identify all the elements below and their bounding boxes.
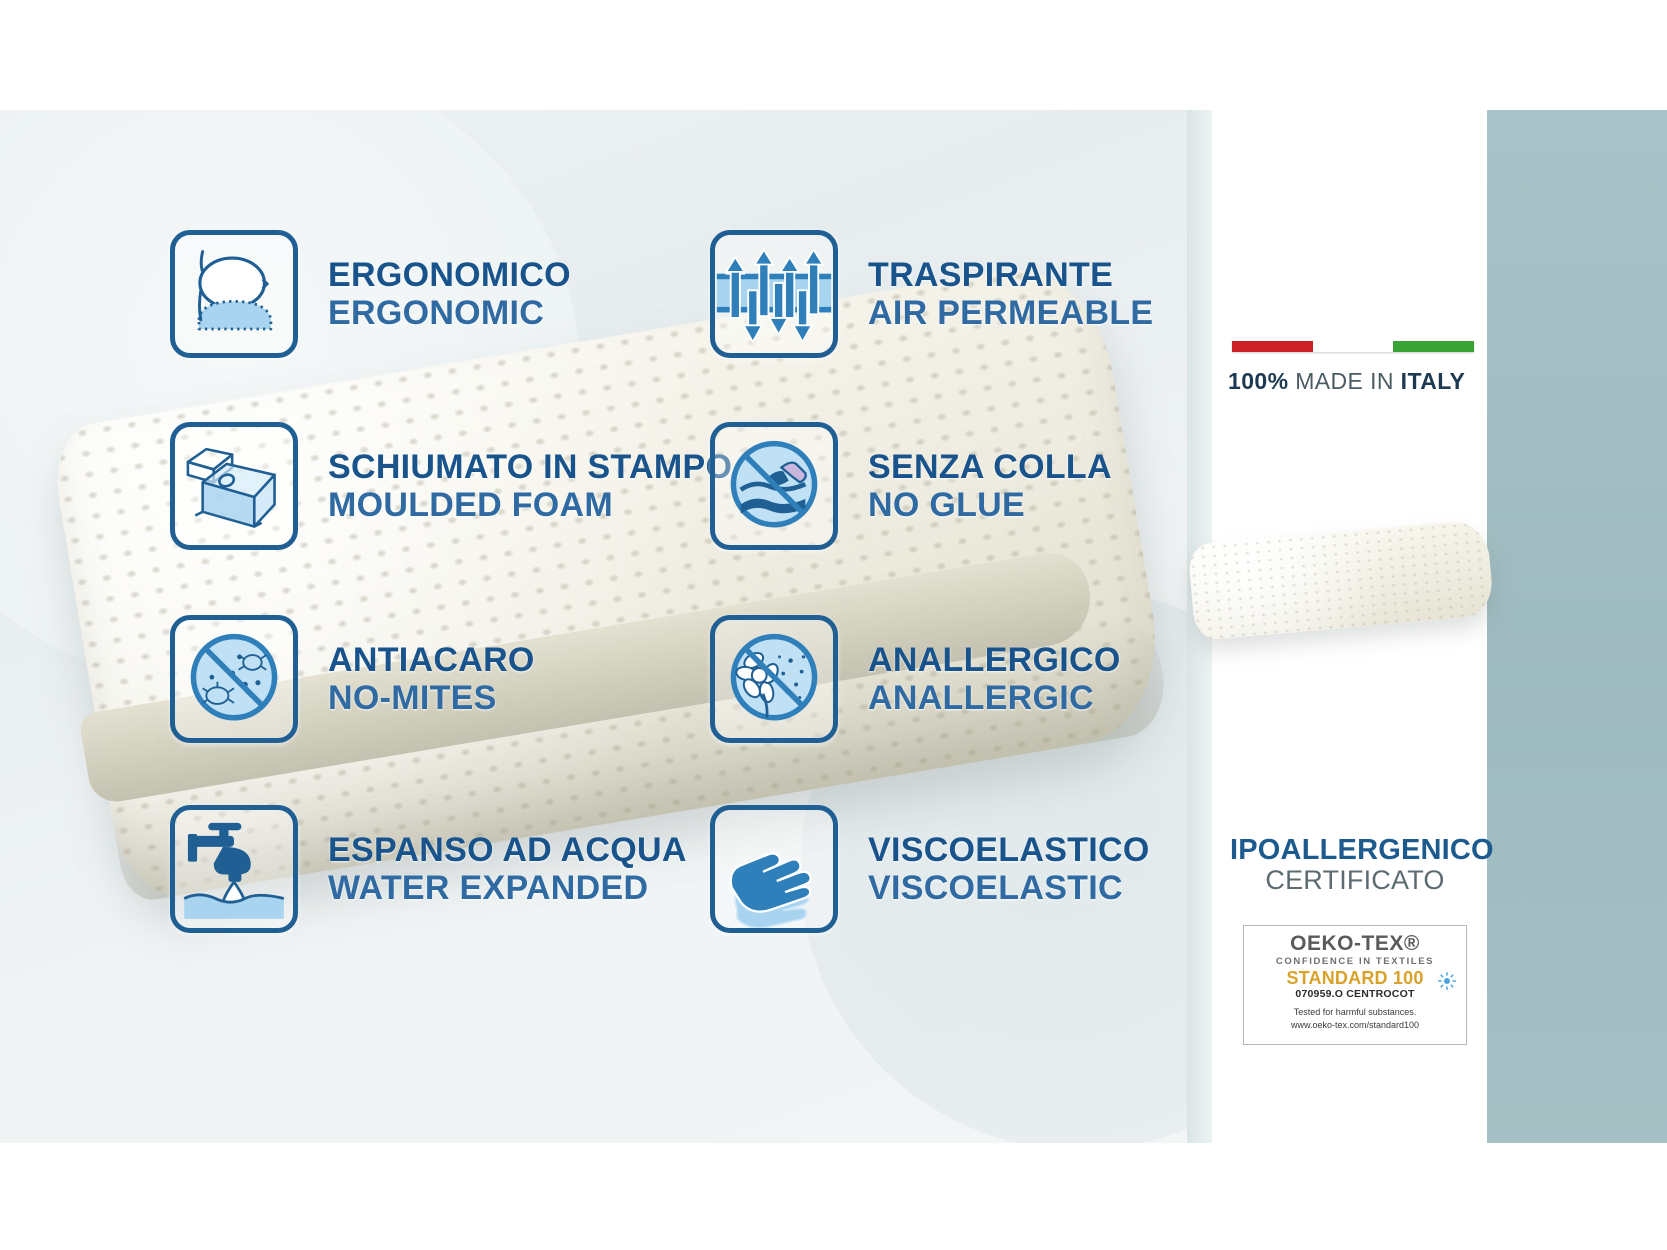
feature-label: VISCOELASTICO VISCOELASTIC	[868, 831, 1150, 908]
feature-label: ESPANSO AD ACQUA WATER EXPANDED	[328, 831, 687, 908]
feature-no-glue: SENZA COLLA NO GLUE	[710, 422, 1112, 550]
oeko-tex-tested-text: Tested for harmful substances.	[1244, 1006, 1466, 1018]
feature-moulded-foam: SCHIUMATO IN STAMPO MOULDED FOAM	[170, 422, 732, 550]
feature-label-english: NO-MITES	[328, 679, 535, 717]
no-glue-prohibition-icon	[710, 422, 838, 550]
feature-label-english: AIR PERMEABLE	[868, 294, 1153, 332]
infographic-canvas: ERGONOMICO ERGONOMIC	[0, 110, 1667, 1143]
feature-label: SENZA COLLA NO GLUE	[868, 448, 1112, 525]
oeko-tex-brand: OEKO-TEX®	[1244, 933, 1466, 954]
feature-label-english: VISCOELASTIC	[868, 869, 1150, 907]
anallergic-flower-prohibition-icon	[710, 615, 838, 743]
feature-label-italian: ESPANSO AD ACQUA	[328, 831, 687, 869]
right-teal-band	[1487, 110, 1667, 1143]
oeko-tex-standard: STANDARD 100	[1244, 969, 1466, 988]
oeko-tex-code: 070959.O CENTROCOT	[1244, 988, 1466, 1000]
feature-viscoelastic: VISCOELASTICO VISCOELASTIC	[710, 805, 1150, 933]
feature-label-italian: SCHIUMATO IN STAMPO	[328, 448, 732, 486]
feature-label-italian: ANALLERGICO	[868, 641, 1121, 679]
oeko-tex-certification-label: OEKO-TEX® CONFIDENCE IN TEXTILES STANDAR…	[1243, 925, 1467, 1045]
feature-label: ERGONOMICO ERGONOMIC	[328, 256, 571, 333]
feature-label-italian: TRASPIRANTE	[868, 256, 1153, 294]
feature-anallergic: ANALLERGICO ANALLERGIC	[710, 615, 1121, 743]
feature-label-english: ERGONOMIC	[328, 294, 571, 332]
feature-air-permeable: TRASPIRANTE AIR PERMEABLE	[710, 230, 1153, 358]
feature-label-english: NO GLUE	[868, 486, 1112, 524]
feature-label: TRASPIRANTE AIR PERMEABLE	[868, 256, 1153, 333]
made-in-italy-label: 100% MADE IN ITALY	[1228, 368, 1478, 395]
feature-label-italian: ERGONOMICO	[328, 256, 571, 294]
water-expanded-faucet-icon	[170, 805, 298, 933]
oeko-tex-confidence: CONFIDENCE IN TEXTILES	[1244, 957, 1466, 967]
feature-label-english: ANALLERGIC	[868, 679, 1121, 717]
mini-pillow-body	[1187, 519, 1494, 641]
feature-label-english: MOULDED FOAM	[328, 486, 732, 524]
feature-label: ANTIACARO NO-MITES	[328, 641, 535, 718]
hypoallergenic-block: IPOALLERGENICO CERTIFICATO	[1230, 835, 1480, 896]
oeko-tex-sunflower-icon	[1438, 972, 1456, 990]
viscoelastic-hands-icon	[710, 805, 838, 933]
feature-label: ANALLERGICO ANALLERGIC	[868, 641, 1121, 718]
air-permeable-arrows-icon	[710, 230, 838, 358]
ergonomic-head-pillow-icon	[170, 230, 298, 358]
italian-flag-icon	[1232, 341, 1474, 352]
made-in-percent: 100%	[1228, 368, 1288, 394]
hypoallergenic-subtitle: CERTIFICATO	[1230, 865, 1480, 896]
no-mites-prohibition-icon	[170, 615, 298, 743]
feature-label: SCHIUMATO IN STAMPO MOULDED FOAM	[328, 448, 732, 525]
flag-stripe-red	[1232, 341, 1313, 352]
infographic-root: ERGONOMICO ERGONOMIC	[0, 0, 1667, 1250]
feature-list: ERGONOMICO ERGONOMIC	[0, 110, 1200, 1143]
made-in-country: ITALY	[1401, 368, 1466, 394]
made-in-middle: MADE IN	[1288, 368, 1400, 394]
feature-label-italian: ANTIACARO	[328, 641, 535, 679]
feature-ergonomic: ERGONOMICO ERGONOMIC	[170, 230, 571, 358]
feature-water-expanded: ESPANSO AD ACQUA WATER EXPANDED	[170, 805, 687, 933]
hypoallergenic-title: IPOALLERGENICO	[1230, 835, 1480, 865]
oeko-tex-url: www.oeko-tex.com/standard100	[1244, 1019, 1466, 1031]
product-thumbnail-image	[1185, 510, 1501, 650]
flag-stripe-white	[1313, 341, 1394, 352]
feature-label-english: WATER EXPANDED	[328, 869, 687, 907]
feature-no-mites: ANTIACARO NO-MITES	[170, 615, 535, 743]
feature-label-italian: VISCOELASTICO	[868, 831, 1150, 869]
moulded-foam-mold-box-icon	[170, 422, 298, 550]
feature-label-italian: SENZA COLLA	[868, 448, 1112, 486]
flag-stripe-green	[1393, 341, 1474, 352]
